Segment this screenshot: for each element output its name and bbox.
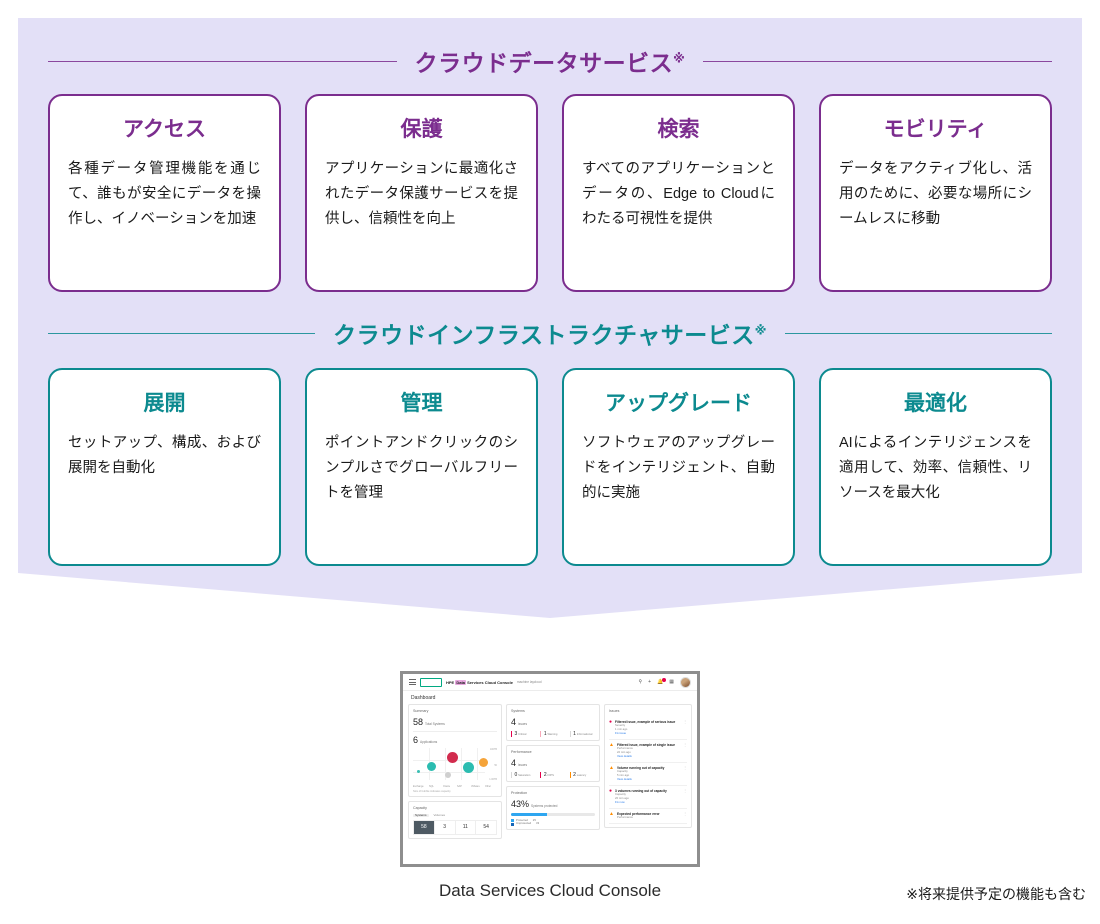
performance-issue-count-value: 4	[511, 758, 516, 769]
legend-label: Unprotected	[516, 822, 531, 825]
summary-applications: 6 Applications	[413, 735, 497, 746]
performance-stat-saturation: 0 Saturation	[511, 772, 536, 778]
card-body-protect: アプリケーションに最適化されたデータ保護サービスを提供し、信頼性を向上	[325, 157, 518, 232]
card-deploy[interactable]: 展開 セットアップ、構成、および 展開を自動化	[48, 368, 281, 566]
issue-text: Filtered issue, example of single issue …	[617, 743, 680, 759]
console-caption: Data Services Cloud Console	[400, 881, 700, 901]
stat-label: Latency	[577, 774, 586, 777]
card-access[interactable]: アクセス 各種データ管理機能を通じて、誰もが安全にデータを操作し、イノベーション…	[48, 94, 281, 292]
systems-stat-informational: 1 Informational	[570, 731, 595, 737]
kebab-menu-icon[interactable]: ⋮	[683, 766, 687, 782]
card-title-search: 検索	[582, 118, 775, 141]
performance-stats: 0 Saturation 2 IOPS 2 Latency	[511, 772, 595, 778]
section-title-cloud-data-services: クラウドデータサービス※	[397, 44, 704, 78]
critical-alert-icon: ●	[609, 789, 612, 805]
bell-icon[interactable]: 🔔	[657, 680, 663, 685]
section-title-cloud-infrastructure-services: クラウドインフラストラクチャサービス※	[315, 316, 785, 350]
bubble-x-tick: Other	[485, 785, 491, 788]
performance-card-header: Performance	[511, 750, 595, 754]
header-rule-right	[785, 333, 1052, 334]
protection-card[interactable]: Protection 43% Systems protected Protect…	[506, 786, 600, 830]
card-title-manage: 管理	[325, 392, 518, 415]
kebab-menu-icon[interactable]: ⋮	[683, 812, 687, 821]
card-optimize[interactable]: 最適化 AIによるインテリジェンスを適用して、効率、信頼性、リソースを最大化	[819, 368, 1052, 566]
legend-value: 33	[536, 822, 539, 825]
capacity-number[interactable]: 11	[456, 820, 477, 834]
hpe-logo	[420, 678, 442, 687]
bubble-point	[463, 762, 474, 773]
section-title-text: クラウドインフラストラクチャサービス	[333, 322, 755, 348]
section-title-text: クラウドデータサービス	[415, 50, 674, 76]
summary-card-header: Summary	[413, 709, 497, 713]
card-search[interactable]: 検索 すべてのアプリケーションとデータの、Edge to Cloudにわたる可視…	[562, 94, 795, 292]
capacity-tabs: Systems Volumes	[413, 814, 497, 818]
bubble-x-tick: SAP	[457, 785, 462, 788]
stat-value: 2	[573, 772, 576, 778]
summary-card[interactable]: Summary 58 Total Systems 6 Applications	[408, 704, 502, 797]
issue-action-link[interactable]: Fix issue	[615, 731, 626, 735]
console-page-title: Dashboard	[403, 691, 697, 704]
issue-text: Expected performance error Performance	[617, 812, 680, 821]
console-topbar: HPE Data Services Cloud Console machine …	[403, 674, 697, 691]
header-rule-left	[48, 61, 397, 62]
stat-value: 1	[573, 731, 576, 737]
bubble-y-mid: 50	[494, 764, 497, 767]
bubble-x-tick: SQL	[429, 785, 434, 788]
warning-alert-icon: ▲	[609, 812, 614, 821]
issue-action-link[interactable]: View details	[617, 754, 632, 758]
console-screenshot-figure: HPE Data Services Cloud Console machine …	[400, 671, 700, 901]
divider	[413, 731, 497, 732]
bubble-point	[479, 758, 488, 767]
card-protect[interactable]: 保護 アプリケーションに最適化されたデータ保護サービスを提供し、信頼性を向上	[305, 94, 538, 292]
summary-chart-note: Size of bubble indicates capacity	[413, 790, 497, 793]
card-body-deploy: セットアップ、構成、および 展開を自動化	[68, 431, 261, 481]
bubble-point	[447, 752, 458, 763]
card-body-access: 各種データ管理機能を通じて、誰もが安全にデータを操作し、イノベーションを加速	[68, 157, 261, 232]
capacity-card[interactable]: Capacity Systems Volumes 58 3 11 54	[408, 801, 502, 838]
header-rule-left	[48, 333, 315, 334]
issue-subtitle: Performance	[617, 815, 633, 819]
section-header-cloud-infrastructure-services: クラウドインフラストラクチャサービス※	[48, 316, 1052, 350]
protection-percent-value: 43%	[511, 799, 529, 810]
performance-issue-count-label: issues	[518, 763, 527, 767]
card-title-mobility: モビリティ	[839, 118, 1032, 141]
card-body-manage: ポイントアンドクリックのシンプルさでグローバルフリートを管理	[325, 431, 518, 506]
critical-alert-icon: ●	[609, 720, 612, 736]
summary-total-systems-value: 58	[413, 717, 423, 728]
performance-card[interactable]: Performance 4 issues 0 Saturation 2	[506, 745, 600, 782]
hamburger-menu-icon[interactable]	[409, 679, 416, 685]
issue-list-item[interactable]: ● Filtered issue, example of serious iss…	[609, 717, 687, 740]
capacity-number-row: 58 3 11 54	[413, 820, 497, 834]
protection-percent: 43% Systems protected	[511, 799, 595, 810]
systems-stat-warning: 1 Warning	[540, 731, 565, 737]
kebab-menu-icon[interactable]: ⋮	[683, 789, 687, 805]
stat-value: 0	[515, 772, 518, 778]
footnote-text: ※将来提供予定の機能も含む	[906, 884, 1086, 904]
section-header-cloud-data-services: クラウドデータサービス※	[48, 44, 1052, 78]
summary-applications-label: Applications	[420, 740, 437, 744]
issues-card[interactable]: Issues ● Filtered issue, example of seri…	[604, 704, 692, 828]
apps-grid-icon[interactable]: ▦	[669, 680, 674, 685]
plus-icon[interactable]: +	[648, 680, 651, 685]
notification-badge	[662, 678, 666, 682]
stat-label: Informational	[577, 733, 593, 736]
warning-alert-icon: ▲	[609, 766, 614, 782]
stat-value: 3	[515, 731, 518, 737]
header-rule-right	[703, 61, 1052, 62]
bubble-point	[445, 772, 451, 778]
bubble-point	[417, 770, 420, 773]
issue-list-item[interactable]: ▲ Expected performance error Performance…	[609, 809, 687, 825]
brand-highlight: Data	[455, 680, 466, 685]
stat-label: Saturation	[518, 774, 530, 777]
bubble-x-tick: Oracle	[443, 785, 450, 788]
systems-card-header: Systems	[511, 709, 595, 713]
card-title-protect: 保護	[325, 118, 518, 141]
card-body-search: すべてのアプリケーションとデータの、Edge to Cloudにわたる可視性を提…	[582, 157, 775, 232]
warning-alert-icon: ▲	[609, 743, 614, 759]
console-column-middle: Systems 4 issues 3 Critical 1	[506, 704, 600, 842]
performance-stat-iops: 2 IOPS	[540, 772, 565, 778]
issue-list-item[interactable]: ● 3 volumes running out of capacity Capa…	[609, 786, 687, 809]
console-brand-title: HPE Data Services Cloud Console	[446, 680, 513, 685]
bubble-y-bottom: 1.00TB	[489, 778, 497, 781]
performance-stat-latency: 2 Latency	[570, 772, 595, 778]
summary-total-systems-label: Total Systems	[425, 722, 445, 726]
protection-legend-unprotected: Unprotected 33	[511, 822, 595, 825]
systems-issue-count-value: 4	[511, 717, 516, 728]
card-row-cloud-infrastructure-services: 展開 セットアップ、構成、および 展開を自動化 管理 ポイントアンドクリックのシ…	[48, 368, 1052, 566]
summary-bubble-chart: 100TB 50 1.00TB Exchange SQL Oracle SAP …	[413, 748, 497, 788]
capacity-card-header: Capacity	[413, 806, 497, 810]
capacity-number[interactable]: 58	[413, 820, 435, 834]
bubble-point	[427, 762, 436, 771]
console-column-left: Summary 58 Total Systems 6 Applications	[408, 704, 502, 842]
summary-total-systems: 58 Total Systems	[413, 717, 497, 728]
issue-list-item[interactable]: ▲ Filtered issue, example of single issu…	[609, 740, 687, 763]
kebab-menu-icon[interactable]: ⋮	[683, 743, 687, 759]
card-upgrade[interactable]: アップグレード ソフトウェアのアップグレードをインテリジェント、自動的に実施	[562, 368, 795, 566]
issue-text: Filtered issue, example of serious issue…	[615, 720, 680, 736]
protection-percent-label: Systems protected	[531, 804, 557, 808]
card-title-deploy: 展開	[68, 392, 261, 415]
protection-card-header: Protection	[511, 791, 595, 795]
card-mobility[interactable]: モビリティ データをアクティブ化し、活用のために、必要な場所にシームレスに移動	[819, 94, 1052, 292]
card-body-optimize: AIによるインテリジェンスを適用して、効率、信頼性、リソースを最大化	[839, 431, 1032, 506]
performance-issue-count: 4 issues	[511, 758, 595, 769]
capacity-number[interactable]: 3	[435, 820, 456, 834]
card-row-cloud-data-services: アクセス 各種データ管理機能を通じて、誰もが安全にデータを操作し、イノベーション…	[48, 94, 1052, 292]
summary-applications-value: 6	[413, 735, 418, 746]
search-icon[interactable]: ⚲	[638, 680, 642, 685]
stat-label: Warning	[547, 733, 557, 736]
card-title-access: アクセス	[68, 118, 261, 141]
protection-progress-bar	[511, 813, 595, 816]
card-body-mobility: データをアクティブ化し、活用のために、必要な場所にシームレスに移動	[839, 157, 1032, 232]
systems-stat-critical: 3 Critical	[511, 731, 536, 737]
bubble-x-tick: VMware	[471, 785, 480, 788]
console-topbar-actions: ⚲ + 🔔 ▦	[638, 677, 691, 688]
console-screenshot-frame: HPE Data Services Cloud Console machine …	[400, 671, 700, 867]
systems-stats: 3 Critical 1 Warning 1 Informational	[511, 731, 595, 737]
systems-issue-count: 4 issues	[511, 717, 595, 728]
card-body-upgrade: ソフトウェアのアップグレードをインテリジェント、自動的に実施	[582, 431, 775, 506]
protection-legend: Protected 25 Unprotected 33	[511, 819, 595, 826]
capacity-tab-systems[interactable]: Systems	[413, 814, 429, 818]
console-screenshot-content: HPE Data Services Cloud Console machine …	[403, 674, 697, 864]
stat-label: Critical	[518, 733, 526, 736]
issue-action-link[interactable]: View details	[617, 777, 632, 781]
console-topbar-subtitle: machine laycloud	[517, 680, 542, 684]
issue-text: Volume running out of capacity Capacity …	[617, 766, 680, 782]
card-manage[interactable]: 管理 ポイントアンドクリックのシンプルさでグローバルフリートを管理	[305, 368, 538, 566]
issue-action-link[interactable]: Fix now	[615, 800, 625, 804]
card-title-optimize: 最適化	[839, 392, 1032, 415]
systems-card[interactable]: Systems 4 issues 3 Critical 1	[506, 704, 600, 741]
stat-label: IOPS	[547, 774, 553, 777]
issues-card-header: Issues	[609, 709, 687, 713]
bubble-x-tick: Exchange	[413, 785, 424, 788]
brand-prefix: HPE	[446, 680, 455, 685]
legend-swatch	[511, 823, 514, 826]
brand-suffix: Services Cloud Console	[466, 680, 513, 685]
capacity-tab-volumes[interactable]: Volumes	[434, 814, 446, 818]
kebab-menu-icon[interactable]: ⋮	[683, 720, 687, 736]
section-title-footnote-mark: ※	[755, 323, 767, 337]
issue-list-item[interactable]: ▲ Volume running out of capacity Capacit…	[609, 763, 687, 786]
user-avatar[interactable]	[680, 677, 691, 688]
console-column-right: Issues ● Filtered issue, example of seri…	[604, 704, 692, 842]
systems-issue-count-label: issues	[518, 722, 527, 726]
section-title-footnote-mark: ※	[673, 51, 685, 65]
card-title-upgrade: アップグレード	[582, 392, 775, 415]
console-dashboard-grid: Summary 58 Total Systems 6 Applications	[403, 704, 697, 842]
issue-text: 3 volumes running out of capacity Capaci…	[615, 789, 680, 805]
capacity-number[interactable]: 54	[476, 820, 497, 834]
bubble-y-top: 100TB	[490, 748, 497, 751]
